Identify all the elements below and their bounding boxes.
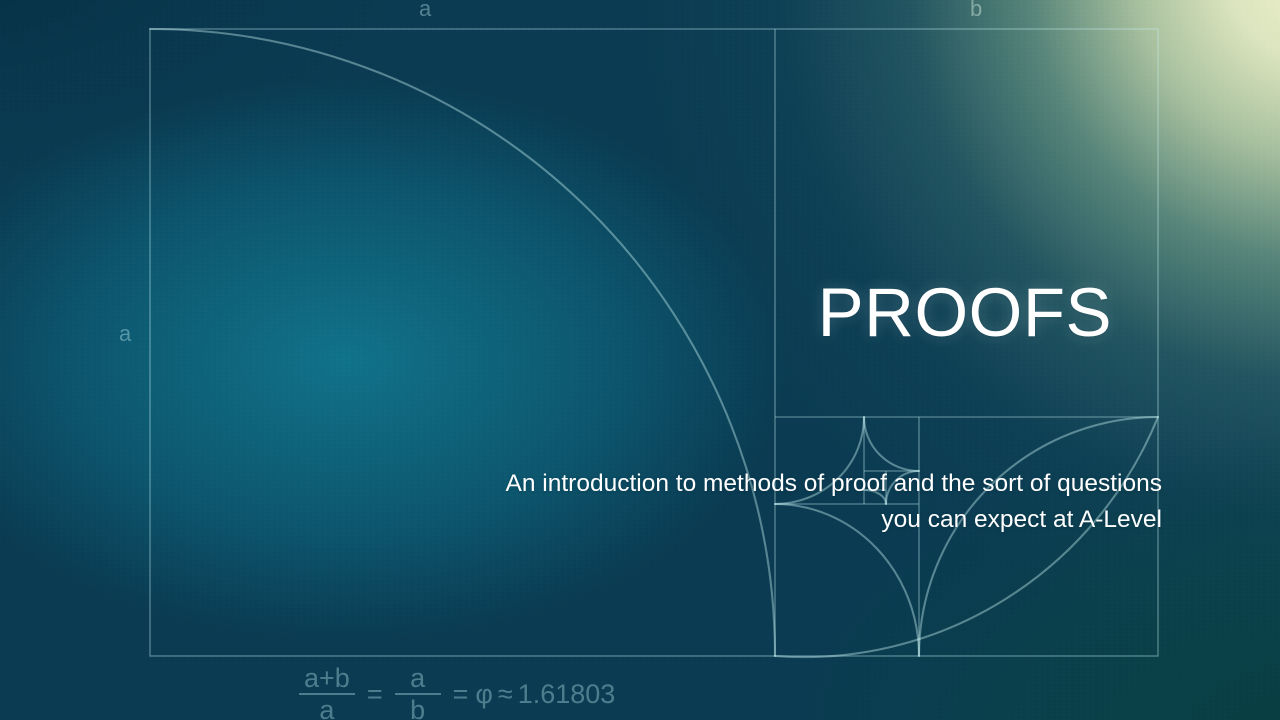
phi-symbol: φ bbox=[475, 679, 493, 710]
golden-ratio-diagram bbox=[0, 0, 1280, 720]
fraction-a-plus-b-over-a: a+b a bbox=[299, 664, 355, 720]
golden-ratio-formula: a+b a = a b = φ ≈ 1.61803 bbox=[292, 664, 615, 720]
fraction-numerator-1: a+b bbox=[299, 664, 355, 693]
page-title: PROOFS bbox=[818, 278, 1112, 348]
equals-sign-2: = bbox=[453, 679, 469, 710]
fraction-numerator-2: a bbox=[405, 664, 430, 693]
phi-value: 1.61803 bbox=[518, 679, 616, 710]
title-slide: a b a PROOFS An introduction to methods … bbox=[0, 0, 1280, 720]
fraction-denominator-1: a bbox=[314, 695, 339, 720]
fraction-a-over-b: a b bbox=[395, 664, 441, 720]
geometry-label-a-top: a bbox=[419, 0, 432, 22]
geometry-label-a-left: a bbox=[119, 321, 132, 347]
fraction-denominator-2: b bbox=[405, 695, 430, 720]
approx-sign: ≈ bbox=[498, 679, 513, 710]
page-subtitle: An introduction to methods of proof and … bbox=[462, 466, 1162, 538]
spiral-arc-6 bbox=[864, 417, 919, 471]
geometry-label-b-top: b bbox=[970, 0, 983, 22]
spiral-arc-1 bbox=[150, 29, 775, 656]
equals-sign-1: = bbox=[367, 679, 383, 710]
